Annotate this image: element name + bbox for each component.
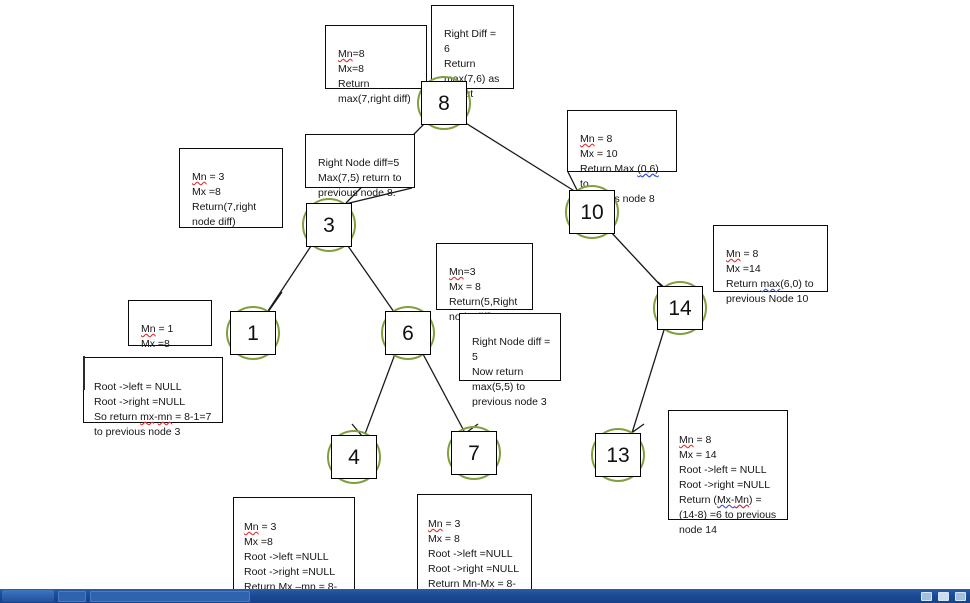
- node-value: 8: [438, 93, 450, 114]
- note-node3-top-text: Right Node diff=5Max(7,5) return toprevi…: [318, 157, 401, 199]
- node-label-box: 13: [595, 433, 641, 477]
- note-node1-left: Mn = 1Mx =8: [128, 300, 212, 346]
- note-root-left-text: Mn=8Mx=8Return max(7,right diff): [338, 48, 411, 105]
- note-node1-left-text: Mn = 1Mx =8: [141, 323, 173, 350]
- node-value: 14: [668, 298, 691, 319]
- edge-10-14: [610, 231, 663, 288]
- node-value: 6: [402, 323, 414, 344]
- node-label-box: 1: [230, 311, 276, 355]
- node-label-box: 6: [385, 311, 431, 355]
- node-value: 10: [580, 202, 603, 223]
- battery-icon[interactable]: [955, 592, 966, 601]
- note-node10-top: Mn = 8Mx = 10Return Max (0,6) toprevious…: [567, 110, 677, 172]
- node-label-box: 10: [569, 190, 615, 234]
- node-label-box: 8: [421, 81, 467, 125]
- note-node1-below-text: Root ->left = NULLRoot ->right =NULLSo r…: [94, 381, 211, 438]
- taskbar-item-1[interactable]: [58, 591, 86, 602]
- leader-node1: [268, 292, 282, 312]
- note-node6-right: Right Node diff = 5Now returnmax(5,5) to…: [459, 313, 561, 381]
- node-value: 3: [323, 215, 335, 236]
- note-node4-below: Mn = 3Mx =8Root ->left =NULLRoot ->right…: [233, 497, 355, 590]
- node-label-box: 7: [451, 431, 497, 475]
- node-value: 7: [468, 443, 480, 464]
- note-node3-left: Mn = 3Mx =8Return(7,rightnode diff): [179, 148, 283, 228]
- note-node7-below: Mn = 3Mx = 8Root ->left =NULLRoot ->righ…: [417, 494, 532, 596]
- edge-8-10: [464, 122, 576, 192]
- note-node13-right-text: Mn = 8Mx = 14Root ->left = NULLRoot ->ri…: [679, 434, 776, 536]
- note-node6-top: Mn=3Mx = 8Return(5,Rightnode diff): [436, 243, 533, 310]
- note-node14-right-text: Mn = 8Mx =14Return max(6,0) toprevious N…: [726, 248, 814, 305]
- taskbar-item-2[interactable]: [90, 591, 250, 602]
- note-node3-left-text: Mn = 3Mx =8Return(7,rightnode diff): [192, 171, 256, 228]
- node-value: 4: [348, 447, 360, 468]
- diagram-canvas: Mn=8Mx=8Return max(7,right diff) Right D…: [0, 0, 970, 603]
- note-root-left: Mn=8Mx=8Return max(7,right diff): [325, 25, 427, 89]
- node-value: 13: [606, 445, 629, 466]
- text-caret: [83, 356, 85, 390]
- note-node14-right: Mn = 8Mx =14Return max(6,0) toprevious N…: [713, 225, 828, 292]
- system-tray[interactable]: [921, 592, 970, 601]
- node-label-box: 3: [306, 203, 352, 247]
- taskbar[interactable]: [0, 589, 970, 603]
- window-icon[interactable]: [938, 592, 949, 601]
- edge-6-7: [423, 354, 464, 431]
- edge-3-1: [268, 246, 311, 311]
- note-node13-right: Mn = 8Mx = 14Root ->left = NULLRoot ->ri…: [668, 410, 788, 520]
- edge-3-6: [348, 246, 394, 312]
- edge-6-4: [365, 354, 395, 434]
- note-node6-right-text: Right Node diff = 5Now returnmax(5,5) to…: [472, 336, 550, 408]
- node-value: 1: [247, 323, 259, 344]
- node-label-box: 4: [331, 435, 377, 479]
- start-button[interactable]: [2, 590, 54, 602]
- edge-14-13: [632, 330, 664, 433]
- note-node1-below: Root ->left = NULLRoot ->right =NULLSo r…: [83, 357, 223, 423]
- note-node3-top: Right Node diff=5Max(7,5) return toprevi…: [305, 134, 415, 188]
- network-icon[interactable]: [921, 592, 932, 601]
- node-label-box: 14: [657, 286, 703, 330]
